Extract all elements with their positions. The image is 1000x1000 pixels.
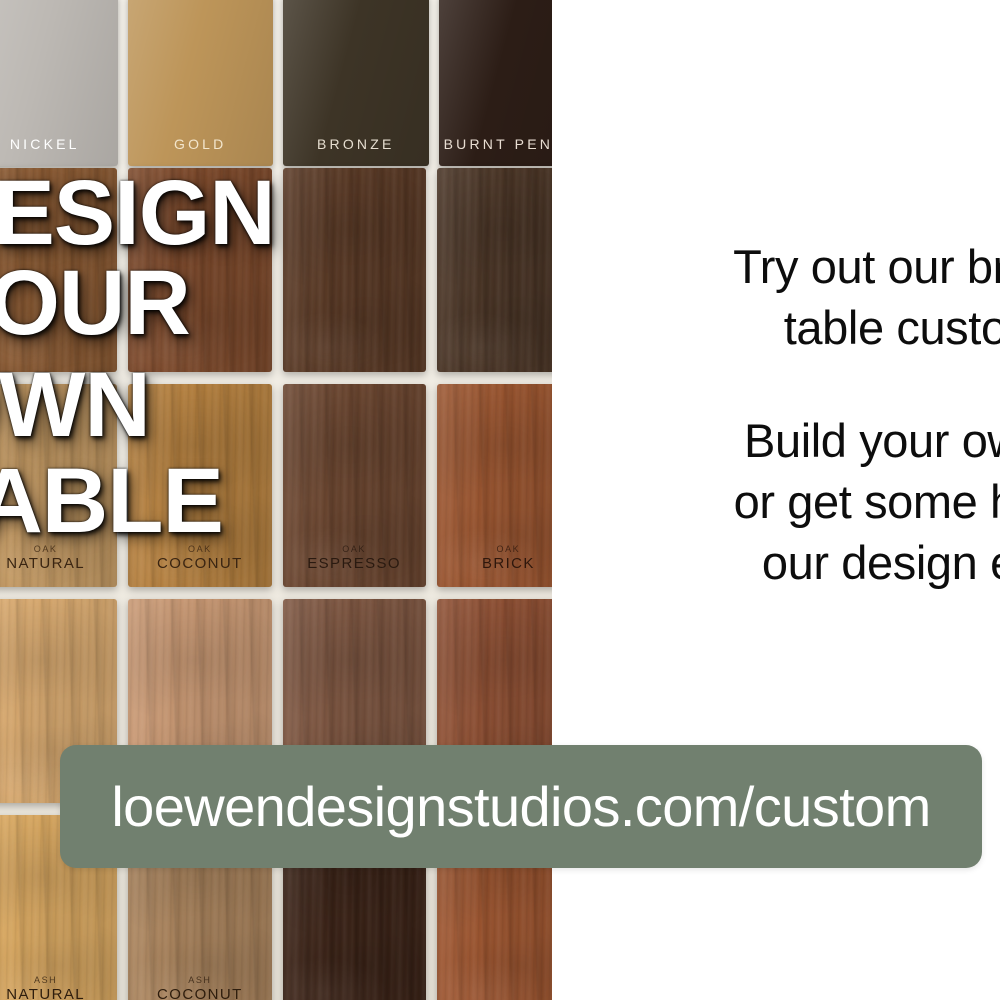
wood-swatch-tone: BRICK — [437, 556, 552, 571]
wood-swatch-species: OAK — [283, 545, 426, 554]
wood-swatch-label: ASHCOCONUT — [128, 976, 271, 1000]
wood-swatch-tone: COCONUT — [128, 556, 271, 571]
wood-swatch-r1c1[interactable] — [0, 168, 117, 372]
wood-swatch-tone: NATURAL — [0, 987, 117, 1000]
copy-p1-line2: table customizer! — [608, 297, 1000, 358]
wood-shade-layer — [128, 168, 271, 372]
metal-swatch-label: BRONZE — [283, 136, 429, 152]
metal-finish-row: NICKELGOLDBRONZEBURNT PENNY — [0, 0, 552, 166]
marketing-copy: Try out our brand new table customizer! … — [608, 236, 1000, 593]
wood-swatch-label: ASHNATURAL — [0, 976, 117, 1000]
wood-swatch-label: OAKNATURAL — [0, 545, 117, 571]
copy-p2-line3: our design experts. — [608, 532, 1000, 593]
promo-canvas: NICKELGOLDBRONZEBURNT PENNY OAKNATURALOA… — [0, 0, 1000, 1000]
url-banner[interactable]: loewendesignstudios.com/custom — [60, 745, 982, 868]
metal-swatch-gold[interactable]: GOLD — [128, 0, 274, 166]
wood-swatch-species: OAK — [128, 545, 271, 554]
metal-swatch-label: BURNT PENNY — [439, 136, 553, 152]
wood-swatch-tone: NATURAL — [0, 556, 117, 571]
copy-spacer — [608, 358, 1000, 410]
wood-swatch-oak-espresso[interactable]: OAKESPRESSO — [283, 384, 426, 588]
wood-swatch-oak-coconut[interactable]: OAKCOCONUT — [128, 384, 271, 588]
wood-swatch-label: OAKESPRESSO — [283, 545, 426, 571]
wood-shade-layer — [437, 168, 552, 372]
wood-swatch-tone: COCONUT — [128, 987, 271, 1000]
wood-swatch-grid: OAKNATURALOAKCOCONUTOAKESPRESSOOAKBRICKA… — [0, 168, 552, 1000]
wood-swatch-oak-natural[interactable]: OAKNATURAL — [0, 384, 117, 588]
wood-swatch-tone: ESPRESSO — [283, 556, 426, 571]
wood-swatch-species: ASH — [0, 976, 117, 985]
wood-swatch-r1c4[interactable] — [437, 168, 552, 372]
metal-swatch-label: NICKEL — [0, 136, 118, 152]
wood-swatch-species: ASH — [128, 976, 271, 985]
url-banner-text: loewendesignstudios.com/custom — [111, 774, 930, 839]
copy-p1-line1: Try out our brand new — [608, 236, 1000, 297]
wood-swatch-label: OAKCOCONUT — [128, 545, 271, 571]
wood-shade-layer — [283, 168, 426, 372]
copy-p2-line1: Build your own table, — [608, 410, 1000, 471]
wood-swatch-r1c2[interactable] — [128, 168, 271, 372]
metal-swatch-burnt-penny[interactable]: BURNT PENNY — [439, 0, 553, 166]
metal-swatch-bronze[interactable]: BRONZE — [283, 0, 429, 166]
wood-swatch-species: OAK — [437, 545, 552, 554]
wood-shade-layer — [0, 168, 117, 372]
wood-swatch-oak-brick[interactable]: OAKBRICK — [437, 384, 552, 588]
wood-swatch-species: OAK — [0, 545, 117, 554]
metal-swatch-label: GOLD — [128, 136, 274, 152]
copy-p2-line2: or get some help from — [608, 471, 1000, 532]
metal-swatch-nickel[interactable]: NICKEL — [0, 0, 118, 166]
wood-swatch-label: OAKBRICK — [437, 545, 552, 571]
wood-swatch-r1c3[interactable] — [283, 168, 426, 372]
